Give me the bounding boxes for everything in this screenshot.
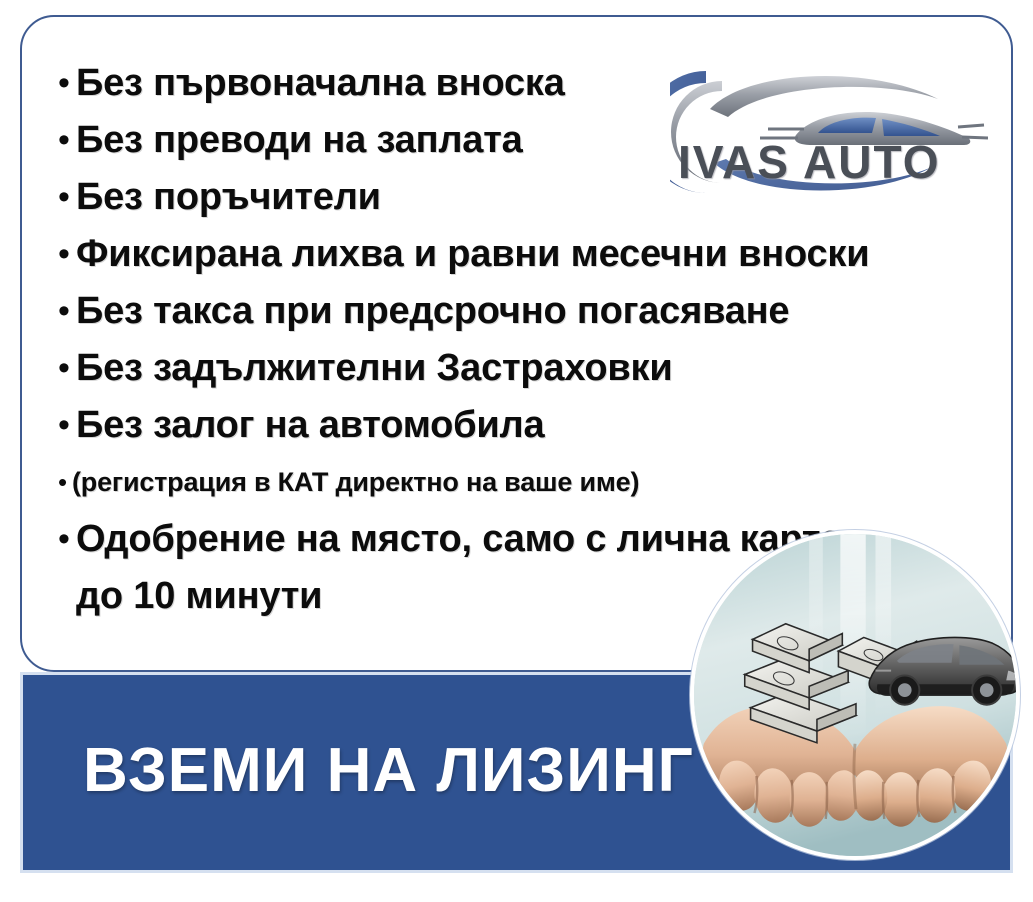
bullet-dot-icon: •: [58, 454, 72, 511]
list-item-label: Без преводи на заплата: [76, 112, 523, 169]
list-item: • Без задължителни Застраховки: [58, 340, 1018, 397]
list-item: • Без първоначална вноска: [58, 55, 1018, 112]
list-item-note-label: (регистрация в КАТ директно на ваше име): [72, 454, 639, 511]
list-item-label: Без такса при предсрочно погасяване: [76, 283, 789, 340]
bullet-dot-icon: •: [58, 511, 76, 568]
list-item: • Без преводи на заплата: [58, 112, 1018, 169]
list-item-label: Без поръчители: [76, 169, 381, 226]
list-item-label: Без залог на автомобила: [76, 397, 544, 454]
list-item: • Без поръчители: [58, 169, 1018, 226]
advertisement-root: IVAS AUTO • Без първоначална вноска • Бе…: [0, 0, 1033, 902]
list-item: • Без такса при предсрочно погасяване: [58, 283, 1018, 340]
list-item-note: • (регистрация в КАТ директно на ваше им…: [58, 454, 1018, 511]
list-item-label: Без задължителни Застраховки: [76, 340, 673, 397]
bullet-dot-icon: •: [58, 55, 76, 112]
bullet-dot-icon: •: [58, 340, 76, 397]
call-to-action-label: ВЗЕМИ НА ЛИЗИНГ: [83, 735, 694, 806]
hands-money-car-photo: [690, 530, 1020, 860]
list-item: • Фиксирана лихва и равни месечни вноски: [58, 226, 1018, 283]
bullet-dot-icon: •: [58, 169, 76, 226]
bullet-dot-icon: •: [58, 397, 76, 454]
bullet-dot-icon: •: [58, 226, 76, 283]
list-item: • Без залог на автомобила: [58, 397, 1018, 454]
list-item-continuation-label: до 10 минути: [76, 568, 322, 624]
list-item-label: Без първоначална вноска: [76, 55, 565, 112]
list-item-label: Фиксирана лихва и равни месечни вноски: [76, 226, 869, 283]
bullet-dot-icon: •: [58, 112, 76, 169]
list-item-label: Одобрение на място, само с лична карта: [76, 511, 841, 568]
bullet-dot-icon: •: [58, 283, 76, 340]
